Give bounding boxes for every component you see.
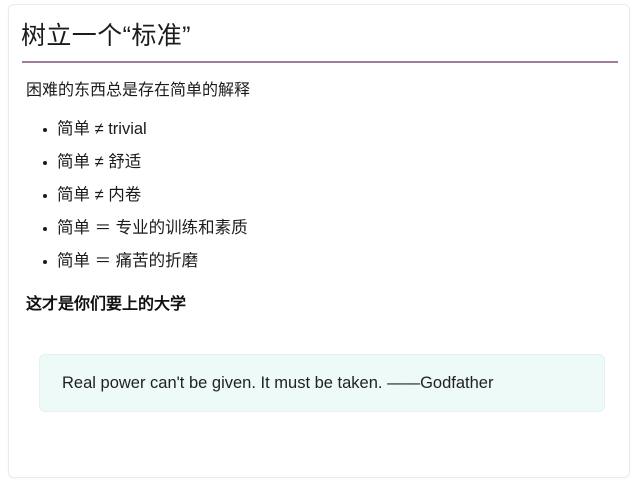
list-item-label: 简单 ≠ 舒适 (57, 153, 141, 171)
list-item-label: 简单 ＝ 痛苦的折磨 (57, 252, 198, 270)
list-item: 简单 ≠ 内卷 (9, 179, 629, 212)
list-item: 简单 ≠ trivial (9, 113, 629, 146)
lead-paragraph: 困难的东西总是存在简单的解释 (26, 79, 250, 103)
bullet-dot-icon (43, 227, 47, 231)
title-divider (22, 61, 618, 63)
list-item-label: 简单 ≠ trivial (57, 120, 147, 138)
emphasis-statement: 这才是你们要上的大学 (26, 293, 186, 317)
bullet-dot-icon (43, 260, 47, 264)
bullet-dot-icon (43, 194, 47, 198)
bullet-dot-icon (43, 128, 47, 132)
quote-callout: Real power can't be given. It must be ta… (39, 354, 605, 412)
slide-card: 树立一个“标准” 困难的东西总是存在简单的解释 简单 ≠ trivial 简单 … (8, 4, 630, 478)
list-item-label: 简单 ＝ 专业的训练和素质 (57, 219, 248, 237)
list-item: 简单 ＝ 痛苦的折磨 (9, 245, 629, 278)
slide-content: 树立一个“标准” 困难的东西总是存在简单的解释 简单 ≠ trivial 简单 … (9, 5, 629, 477)
list-item: 简单 ≠ 舒适 (9, 146, 629, 179)
page-title: 树立一个“标准” (21, 19, 191, 53)
bullet-list: 简单 ≠ trivial 简单 ≠ 舒适 简单 ≠ 内卷 简单 ＝ 专业的训练和… (9, 113, 629, 278)
list-item-label: 简单 ≠ 内卷 (57, 186, 141, 204)
bullet-dot-icon (43, 161, 47, 165)
quote-text: Real power can't be given. It must be ta… (40, 372, 493, 394)
list-item: 简单 ＝ 专业的训练和素质 (9, 212, 629, 245)
